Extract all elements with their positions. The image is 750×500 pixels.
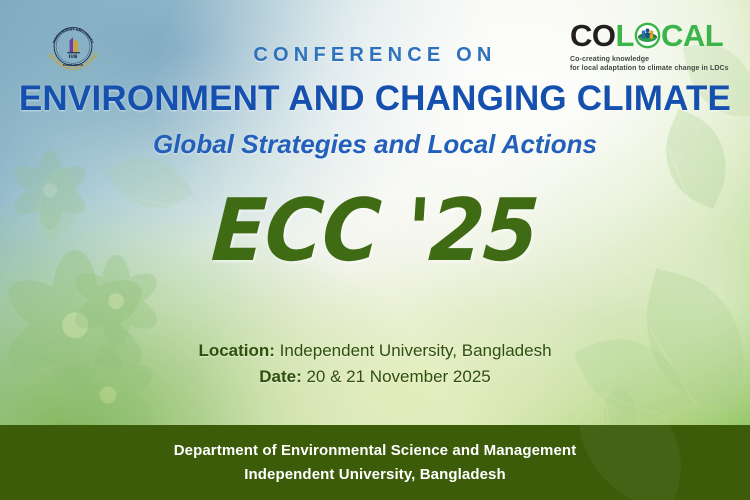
- event-details: Location: Independent University, Bangla…: [0, 338, 750, 391]
- footer-leaf-icon: [556, 425, 704, 500]
- event-mark-block: ECC '25: [0, 186, 750, 276]
- date-label: Date:: [259, 367, 302, 386]
- location-label: Location:: [198, 341, 275, 360]
- footer-university: Independent University, Bangladesh: [244, 463, 506, 487]
- location-line: Location: Independent University, Bangla…: [0, 338, 750, 364]
- location-value: Independent University, Bangladesh: [280, 341, 552, 360]
- footer-bar: Department of Environmental Science and …: [0, 425, 750, 500]
- conference-banner: IUB INDEPENDENT UNIVERSITY BANGLADESH CO…: [0, 0, 750, 500]
- ecc-logotype: ECC '25: [209, 186, 540, 276]
- footer-department: Department of Environmental Science and …: [174, 439, 577, 463]
- date-value: 20 & 21 November 2025: [306, 367, 490, 386]
- page-subtitle: Global Strategies and Local Actions: [0, 129, 750, 160]
- svg-text:INDEPENDENT UNIVERSITY: INDEPENDENT UNIVERSITY: [52, 27, 95, 44]
- date-line: Date: 20 & 21 November 2025: [0, 364, 750, 390]
- conference-eyebrow: CONFERENCE ON: [0, 44, 750, 67]
- page-title: ENVIRONMENT AND CHANGING CLIMATE: [0, 79, 750, 119]
- headline-block: CONFERENCE ON ENVIRONMENT AND CHANGING C…: [0, 44, 750, 160]
